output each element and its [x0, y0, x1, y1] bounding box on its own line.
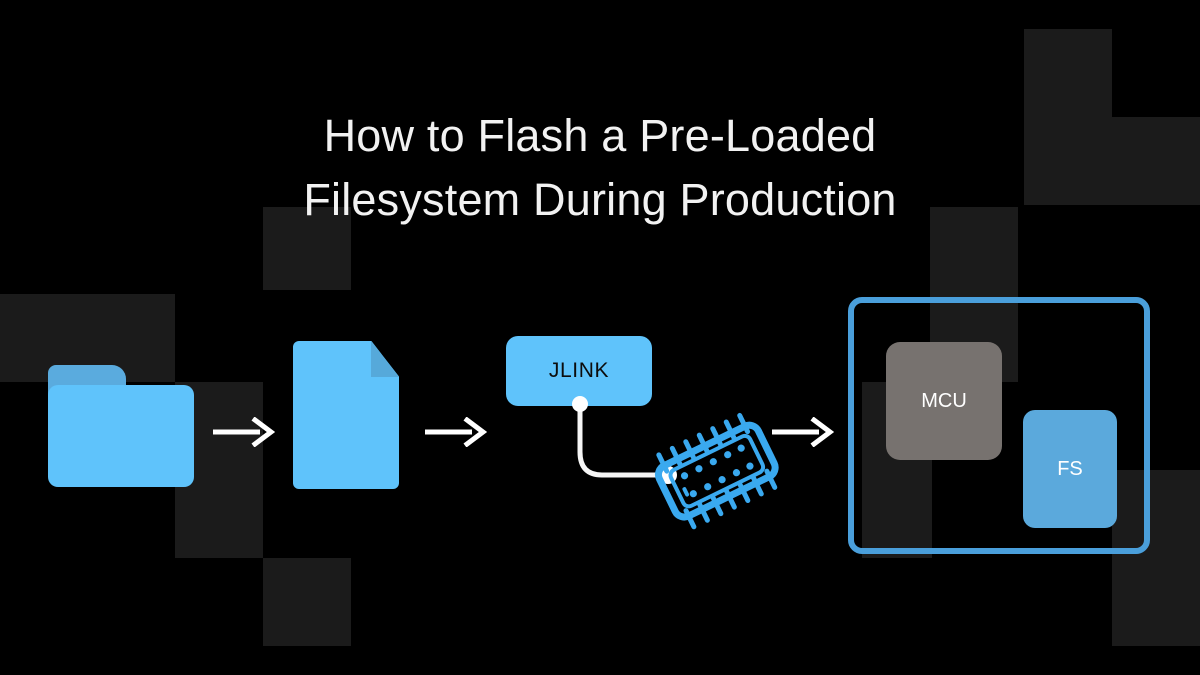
- fs-block: FS: [1023, 410, 1117, 528]
- mcu-block: MCU: [886, 342, 1002, 460]
- ic-chip-icon: [650, 410, 780, 535]
- device-board: MCU FS: [848, 297, 1150, 554]
- page-title: How to Flash a Pre-Loaded Filesystem Dur…: [0, 104, 1200, 232]
- folder-body: [48, 385, 194, 487]
- fs-label: FS: [1057, 458, 1083, 481]
- arrow-1-icon: [213, 417, 275, 447]
- wire-endpoint-jlink: [572, 396, 588, 412]
- folder-icon: [48, 365, 194, 487]
- slide-canvas: How to Flash a Pre-Loaded Filesystem Dur…: [0, 0, 1200, 675]
- jlink-label: JLINK: [549, 359, 609, 383]
- arrow-3-icon: [772, 417, 834, 447]
- arrow-2-icon: [425, 417, 487, 447]
- document-icon: [293, 341, 399, 489]
- background-square: [263, 558, 351, 646]
- mcu-label: MCU: [921, 390, 967, 413]
